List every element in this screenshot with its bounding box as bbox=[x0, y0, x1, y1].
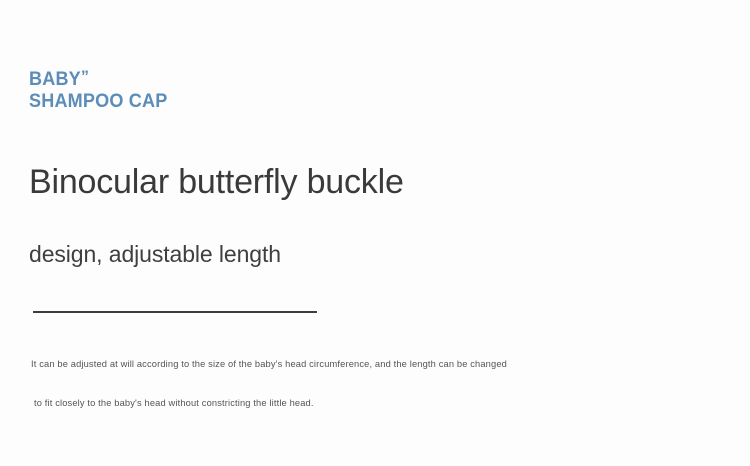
description-line-1: It can be adjusted at will according to … bbox=[31, 360, 631, 369]
brand-logo-line-1: BABY” bbox=[29, 68, 167, 89]
page-title: Binocular butterfly buckle bbox=[29, 163, 404, 202]
section-divider bbox=[33, 311, 317, 313]
brand-logo-line-1-text: BABY bbox=[29, 69, 81, 90]
product-detail-banner: BABY” SHAMPOO CAP Binocular butterfly bu… bbox=[0, 0, 750, 466]
description-block: It can be adjusted at will according to … bbox=[31, 360, 631, 409]
description-line-2: to fit closely to the baby's head withou… bbox=[34, 399, 631, 408]
brand-quote-icon: ” bbox=[81, 67, 89, 86]
brand-logo-line-2: SHAMPOO CAP bbox=[29, 92, 167, 111]
brand-logo: BABY” SHAMPOO CAP bbox=[29, 68, 175, 111]
page-subtitle: design, adjustable length bbox=[29, 241, 281, 267]
